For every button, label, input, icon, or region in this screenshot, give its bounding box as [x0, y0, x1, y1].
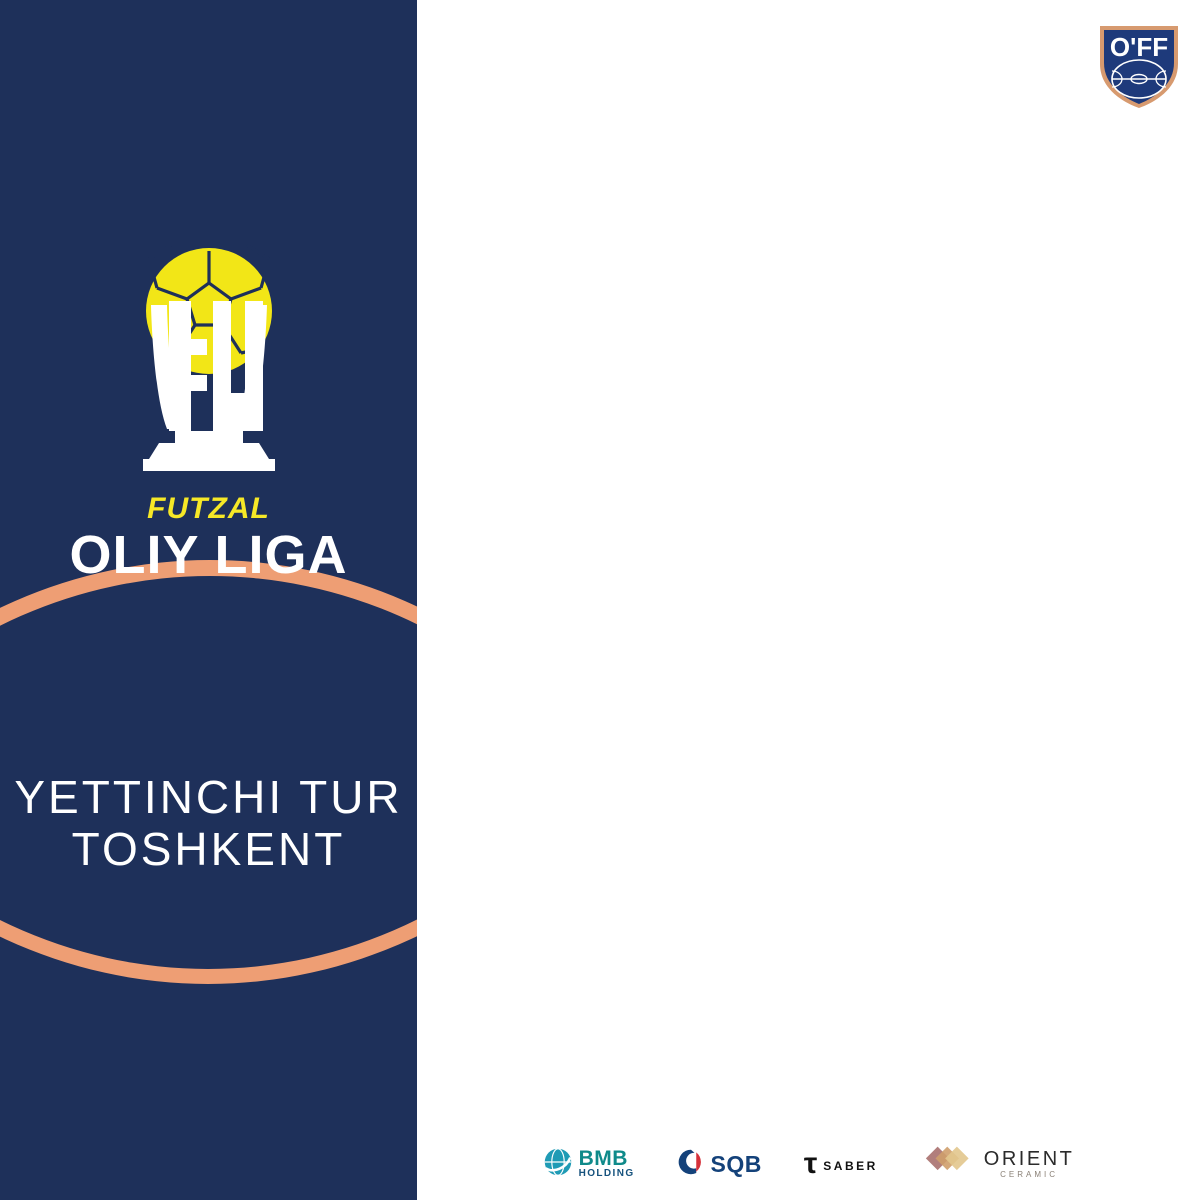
- sponsor-saber[interactable]: τ SABER: [804, 1151, 878, 1177]
- decorative-arc-bottom: [0, 560, 417, 1200]
- sponsor-bar: BMB HOLDING SQB τ SABER: [417, 1128, 1200, 1200]
- sponsor-name: SQB: [711, 1151, 762, 1178]
- sponsor-orient[interactable]: ORIENT CERAMIC: [920, 1144, 1075, 1184]
- saber-glyph-icon: τ: [804, 1147, 817, 1180]
- logo-word-futzal: FUTZAL: [0, 492, 417, 526]
- futsal-trophy-icon: [109, 243, 309, 498]
- league-logo: FUTZAL OLIY LIGA: [0, 243, 417, 582]
- schedule-panel: [417, 0, 1200, 1200]
- sqb-circle-icon: [677, 1148, 705, 1181]
- logo-word-oliy-liga: OLIY LIGA: [0, 528, 417, 582]
- orient-diamond-icon: [920, 1144, 978, 1184]
- sponsor-name: SABER: [823, 1160, 878, 1172]
- sponsor-name: BMB: [579, 1149, 635, 1169]
- round-caption: YETTINCHI TUR TOSHKENT: [0, 772, 417, 875]
- sponsor-subname: CERAMIC: [984, 1171, 1075, 1179]
- bmb-wordmark: BMB HOLDING: [579, 1149, 635, 1178]
- left-brand-panel: FUTZAL OLIY LIGA YETTINCHI TUR TOSHKENT: [0, 0, 417, 1200]
- federation-shield-icon: O'FF: [1096, 16, 1182, 110]
- round-line-2: TOSHKENT: [0, 824, 417, 876]
- bmb-globe-icon: [543, 1147, 573, 1182]
- sponsor-subname: HOLDING: [579, 1169, 635, 1179]
- orient-wordmark: ORIENT CERAMIC: [984, 1149, 1075, 1179]
- sponsor-bmb[interactable]: BMB HOLDING: [543, 1147, 635, 1182]
- sponsor-name: ORIENT: [984, 1149, 1075, 1169]
- federation-abbrev-text: O'FF: [1110, 32, 1168, 62]
- round-line-1: YETTINCHI TUR: [0, 772, 417, 824]
- sponsor-sqb[interactable]: SQB: [677, 1148, 762, 1181]
